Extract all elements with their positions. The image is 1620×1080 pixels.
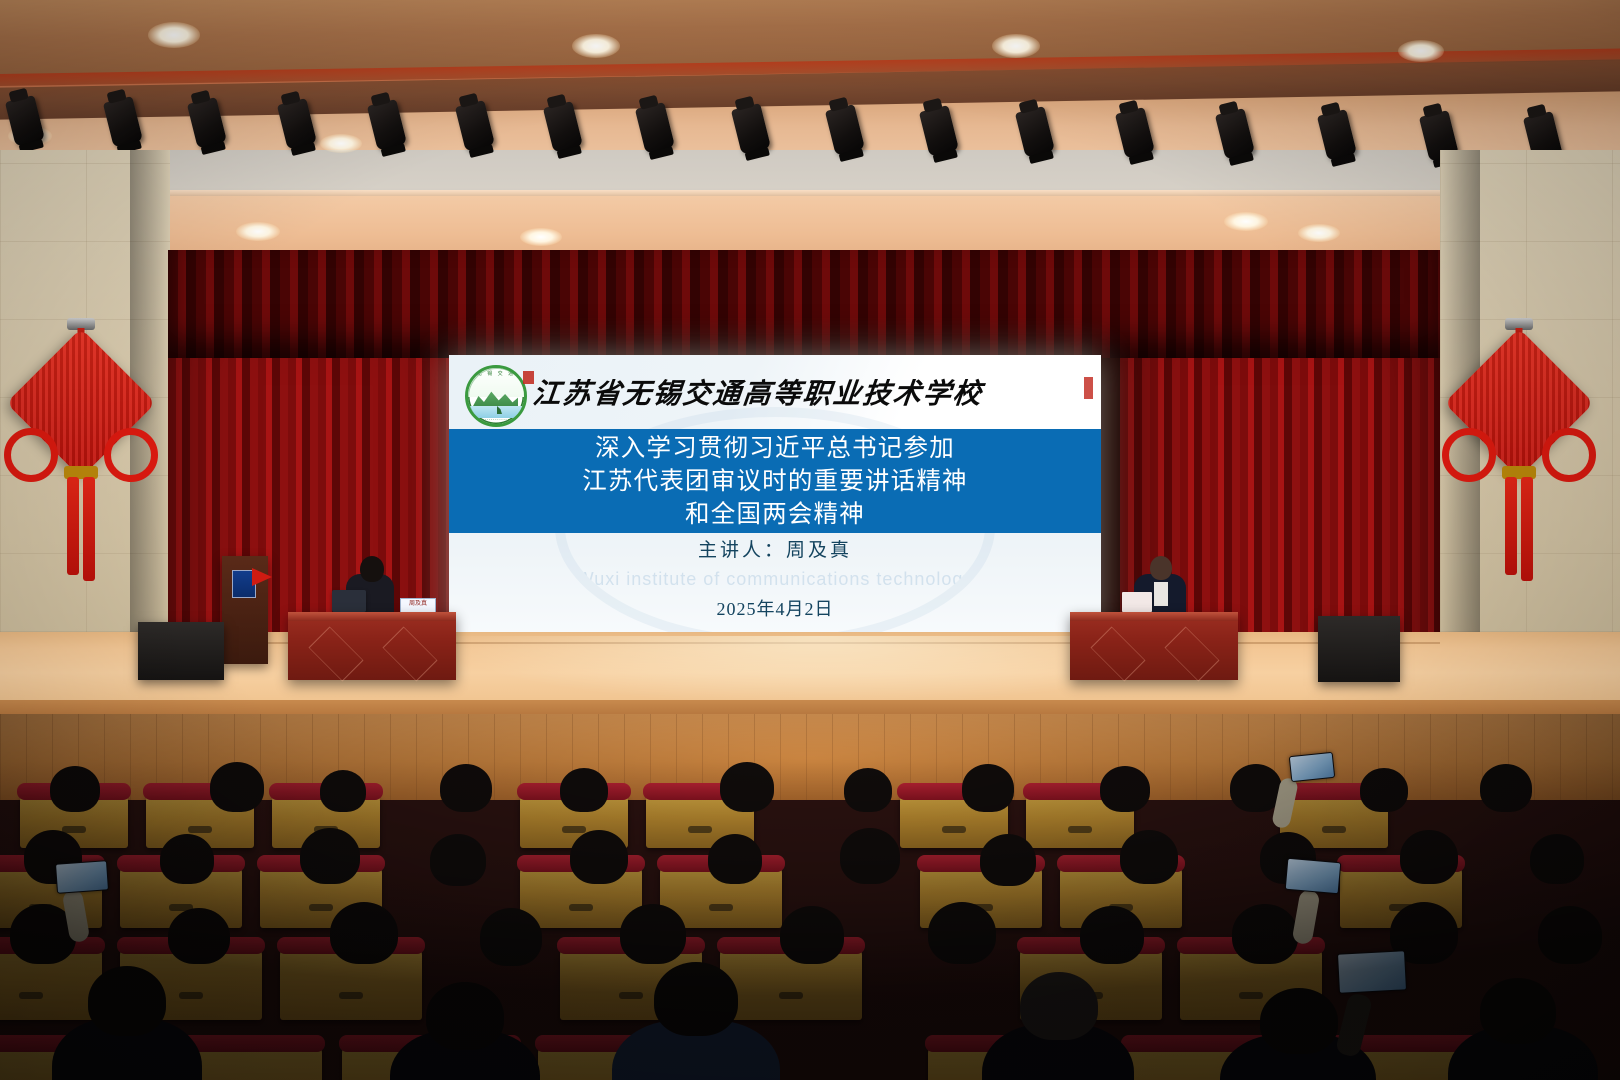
seat-latch	[1239, 992, 1263, 999]
audience-head	[844, 768, 892, 812]
stage-spotlight-icon	[1317, 109, 1357, 161]
stage-spotlight-icon	[731, 103, 771, 155]
school-crest-logo: 无 锡 交 通 ·························	[465, 365, 527, 427]
audience-head	[928, 902, 996, 964]
downlight-icon	[236, 222, 280, 241]
seat-latch	[179, 992, 203, 999]
audience-head	[168, 908, 230, 964]
stage-spotlight-icon	[187, 97, 227, 149]
slide-speaker-line: 主讲人：周及真	[449, 535, 1101, 562]
stage-spotlight-icon	[367, 99, 407, 151]
audience-head	[1360, 768, 1408, 812]
audience-head	[210, 762, 264, 812]
school-name-calligraphy: 江苏省无锡交通高等职业技术学校	[531, 372, 985, 412]
stage-spotlight-icon	[103, 96, 143, 148]
audience-head	[962, 764, 1014, 812]
seat-latch	[339, 992, 363, 999]
seat-latch	[1322, 826, 1346, 833]
audience-head	[1232, 904, 1298, 964]
audience-head	[560, 768, 608, 812]
seat-latch	[1068, 826, 1092, 833]
spotlight-bar	[0, 96, 1620, 156]
stage-table-left	[288, 612, 456, 680]
seat-latch	[19, 992, 43, 999]
stage-spotlight-icon	[825, 104, 865, 156]
tassel-strand	[1521, 477, 1533, 581]
audience-head	[654, 962, 738, 1036]
smartphone[interactable]	[1285, 858, 1342, 895]
seat-latch	[619, 992, 643, 999]
stage-spotlight-icon	[919, 105, 959, 157]
audience-head	[1080, 906, 1144, 964]
crest-arc-bottom-text: ·························	[468, 417, 524, 423]
table-panel-diamond	[309, 627, 364, 682]
crest-arc-top-text: 无 锡 交 通	[468, 370, 524, 377]
table-panel-diamond	[1165, 627, 1220, 682]
papers-right	[1122, 592, 1152, 612]
seat-latch	[688, 826, 712, 833]
table-top-edge	[288, 612, 456, 621]
audience-head	[430, 834, 486, 886]
audience-head	[1020, 972, 1098, 1040]
audience-head	[980, 834, 1036, 886]
audience-head	[300, 828, 360, 884]
nameplate-left: 周及真	[400, 598, 436, 613]
stage-spotlight-icon	[1015, 106, 1055, 158]
audience-head	[708, 834, 762, 884]
knot-loop-right	[1542, 428, 1596, 482]
phone-screen	[1338, 951, 1406, 992]
slide-title-band: 深入学习贯彻习近平总书记参加 江苏代表团审议时的重要讲话精神 和全国两会精神	[449, 429, 1101, 533]
phone-screen	[1286, 859, 1340, 893]
slide-title-line-3: 和全国两会精神	[685, 498, 865, 531]
seat-latch	[562, 826, 586, 833]
audience-head	[440, 764, 492, 812]
audience-head	[320, 770, 366, 812]
table-panel-diamond	[1091, 627, 1146, 682]
seat-latch	[309, 904, 333, 911]
audience-head	[620, 904, 686, 964]
table-top-edge	[1070, 612, 1238, 621]
audience-head	[780, 906, 844, 964]
stage-valance	[168, 250, 1440, 358]
seat-latch	[188, 826, 212, 833]
projection-screen: 江苏省无锡交通高等职业技术学校 Wuxi institute of commun…	[449, 355, 1101, 632]
seat-latch	[942, 826, 966, 833]
tassel-strand	[83, 477, 95, 581]
stage-table-left-group: 周及真	[288, 548, 456, 680]
stage-spotlight-icon	[455, 100, 495, 152]
presenter-right-shirt	[1154, 582, 1168, 606]
audience-head	[1260, 988, 1338, 1054]
chinese-knot-decoration	[6, 318, 156, 588]
tassel-strand	[67, 477, 79, 575]
audience-head	[160, 834, 214, 884]
smartphone[interactable]	[55, 860, 109, 894]
red-flag-accent-icon	[252, 568, 272, 586]
downlight-icon	[992, 34, 1040, 58]
audience-head	[1230, 764, 1282, 812]
seat-latch	[779, 992, 803, 999]
smartphone[interactable]	[1289, 752, 1335, 782]
downlight-icon	[520, 228, 562, 246]
audience-head	[1480, 978, 1556, 1044]
audience-head	[1100, 766, 1150, 812]
stage-loudspeaker-left	[138, 622, 224, 680]
audience-head	[330, 902, 398, 964]
tassel-strand	[1505, 477, 1517, 575]
seat-latch	[569, 904, 593, 911]
red-seal-mark-icon	[1084, 377, 1093, 399]
audience-head	[840, 828, 900, 884]
downlight-icon	[572, 34, 620, 58]
audience-head	[570, 830, 628, 884]
laptop-left	[332, 590, 366, 612]
audience-head	[426, 982, 504, 1050]
audience-head	[1400, 830, 1458, 884]
slide-date-line: 2025年4月2日	[449, 595, 1101, 621]
audience-head	[1120, 830, 1178, 884]
audience-head	[1538, 906, 1602, 964]
audience-head	[1480, 764, 1532, 812]
watermark-english: Wuxi institute of communications technol…	[565, 569, 985, 590]
audience-seating	[0, 714, 1620, 1080]
stage-table-right-group	[1070, 548, 1238, 680]
audience-head	[1530, 834, 1584, 884]
audience-head	[50, 766, 100, 812]
audience-head	[720, 762, 774, 812]
stage-loudspeaker-right	[1318, 616, 1400, 682]
phone-screen	[1290, 753, 1334, 781]
stage-spotlight-icon	[1115, 107, 1155, 159]
knot-loop-left	[1442, 428, 1496, 482]
downlight-icon	[1398, 40, 1444, 62]
knot-loop-left	[4, 428, 58, 482]
seated-presenter-left-head	[360, 556, 384, 582]
nameplate-text: 周及真	[401, 599, 435, 610]
stage-spotlight-icon	[543, 101, 583, 153]
knot-tassel	[64, 466, 98, 578]
phone-screen	[56, 861, 108, 892]
table-panel-diamond	[383, 627, 438, 682]
slide-title-line-1: 深入学习贯彻习近平总书记参加	[595, 432, 955, 465]
knot-tassel	[1502, 466, 1536, 578]
audience-head	[480, 908, 542, 966]
stage-table-right	[1070, 612, 1238, 680]
slide-title-line-2: 江苏代表团审议时的重要讲话精神	[582, 465, 968, 498]
stage-spotlight-icon	[5, 95, 45, 147]
auditorium-photo: 江苏省无锡交通高等职业技术学校 Wuxi institute of commun…	[0, 0, 1620, 1080]
smartphone[interactable]	[1337, 950, 1407, 994]
red-seal-mark-icon	[523, 371, 534, 384]
stage-spotlight-icon	[635, 102, 675, 154]
audience-head	[88, 966, 166, 1036]
seated-presenter-right-head	[1150, 556, 1172, 580]
stage-spotlight-icon	[1215, 108, 1255, 160]
downlight-icon	[1224, 212, 1268, 231]
stage-spotlight-icon	[277, 98, 317, 150]
chinese-knot-decoration	[1444, 318, 1594, 588]
downlight-icon	[148, 22, 200, 48]
knot-loop-right	[104, 428, 158, 482]
seat-latch	[709, 904, 733, 911]
downlight-icon	[1298, 224, 1340, 242]
